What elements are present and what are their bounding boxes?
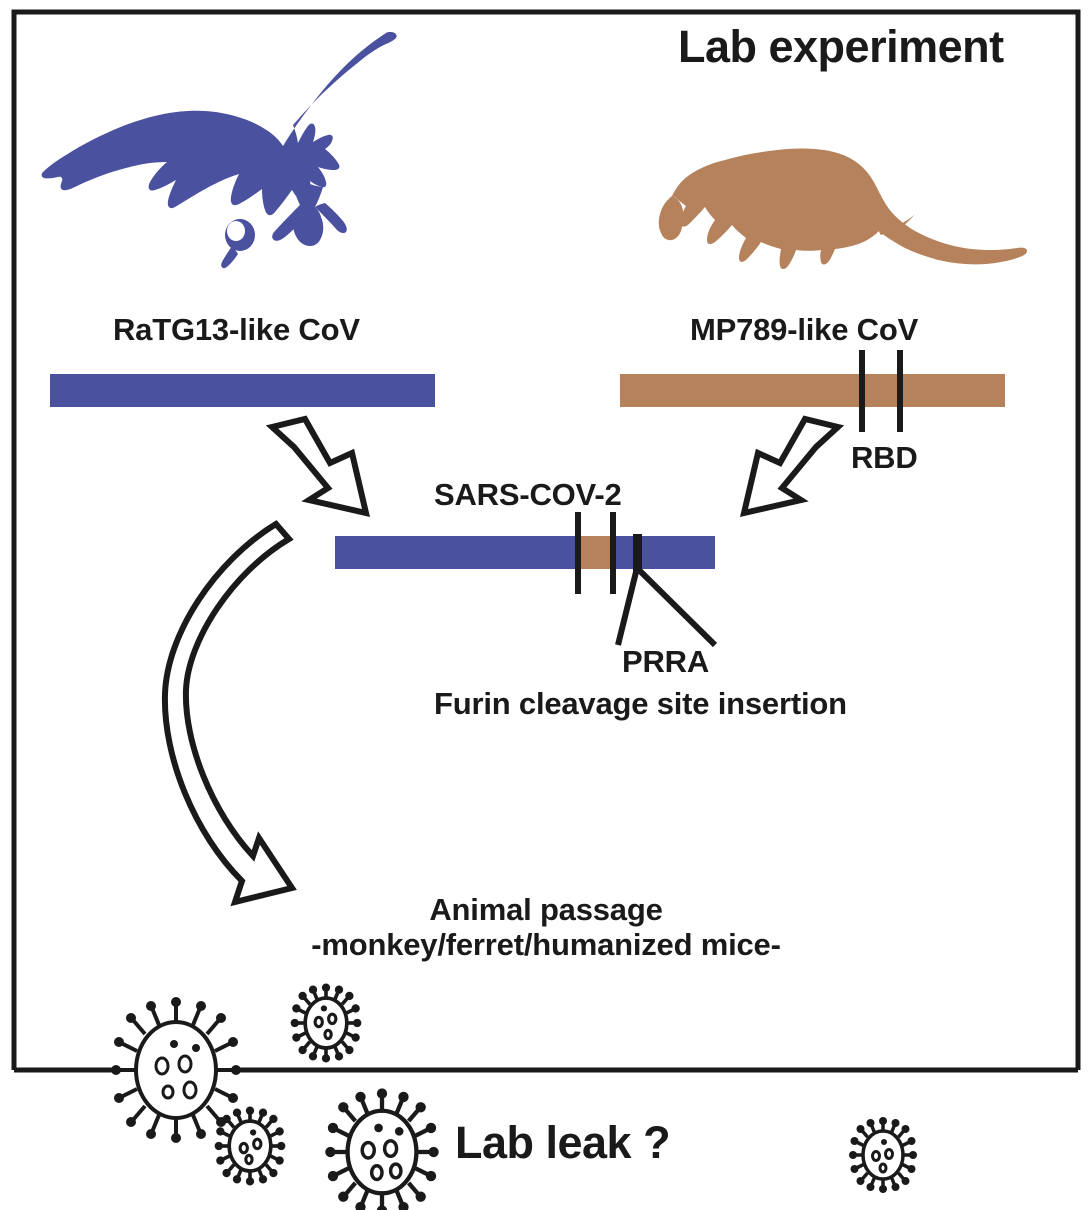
virus-small-left xyxy=(215,1106,286,1185)
virus-large-left xyxy=(111,997,241,1143)
prra-leader-left xyxy=(618,568,637,645)
genome-label-sars-cov-2: SARS-COV-2 xyxy=(434,478,621,513)
annotation-furin-cleavage: Furin cleavage site insertion xyxy=(434,687,847,722)
genome-label-ratg13: RaTG13-like CoV xyxy=(113,313,360,348)
genome-bar-ratg13 xyxy=(50,374,435,407)
virus-small-top xyxy=(291,983,362,1062)
virus-large-center xyxy=(325,1088,439,1210)
arrow-sars-to-passage-icon xyxy=(165,524,292,902)
arrow-pangolin-to-sars-icon xyxy=(744,419,838,513)
animal-passage-line-1: Animal passage xyxy=(429,892,662,927)
annotation-prra: PRRA xyxy=(622,645,709,680)
annotation-animal-passage: Animal passage -monkey/ferret/humanized … xyxy=(0,893,1092,962)
rbd-insert-segment xyxy=(580,536,611,569)
prra-leader-right xyxy=(637,568,715,645)
page-title: Lab experiment xyxy=(678,22,1004,72)
diagram-canvas: Lab experiment RaTG13-like CoV MP789-lik… xyxy=(0,0,1092,1210)
genome-label-mp789: MP789-like CoV xyxy=(690,313,918,348)
bottom-caption: Lab leak ? xyxy=(455,1118,670,1168)
diagram-graphics xyxy=(0,0,1092,1210)
bat-silhouette xyxy=(42,32,397,268)
animal-passage-line-2: -monkey/ferret/humanized mice- xyxy=(0,928,1092,963)
prra-insertion-mark xyxy=(633,534,642,571)
virus-small-right xyxy=(849,1117,917,1193)
genome-bar-sars-cov-2 xyxy=(335,512,715,645)
arrow-bat-to-sars-icon xyxy=(272,419,366,513)
annotation-rbd: RBD xyxy=(851,441,918,476)
pangolin-silhouette xyxy=(659,149,1027,270)
